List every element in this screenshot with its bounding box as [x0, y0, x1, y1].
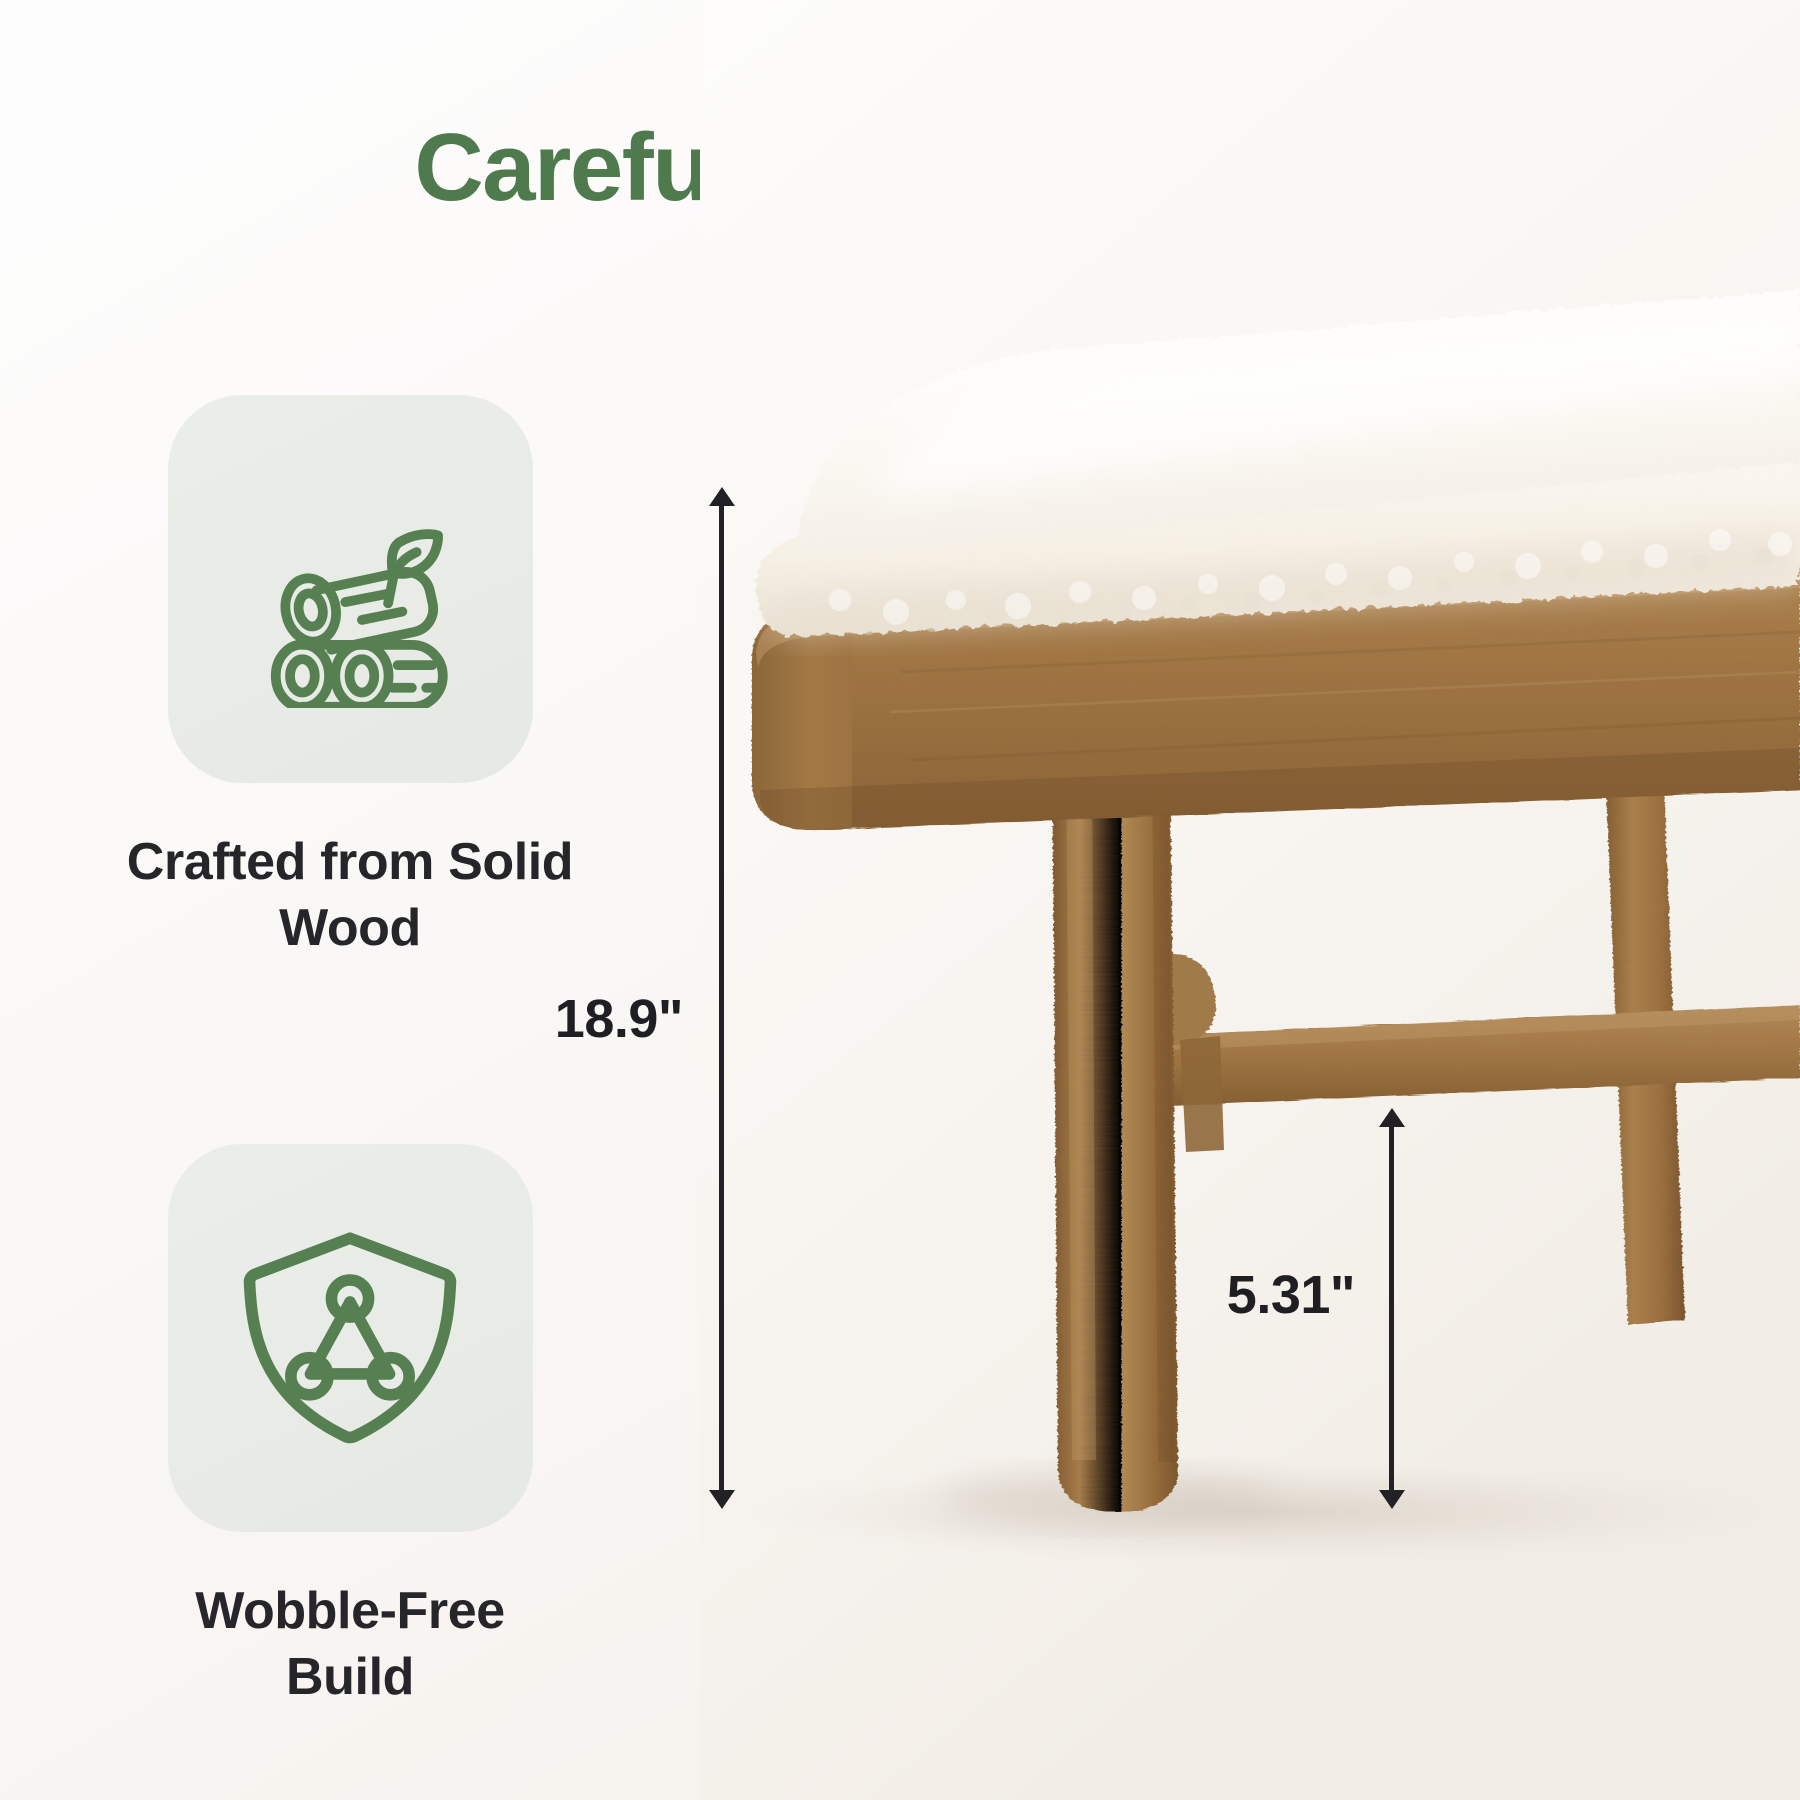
feature-label-line1: Wobble-Free	[195, 1582, 505, 1640]
feature-label-line2: Wood	[279, 899, 421, 957]
dimension-line-vertical	[719, 500, 724, 1496]
feature-list: Crafted from Solid Wood	[0, 395, 700, 1710]
feature-item-wobble-free: Wobble-Free Build	[0, 1144, 700, 1710]
dimension-label-clearance-height: 5.31"	[1090, 1264, 1355, 1326]
bench-leg-back-left	[1180, 1036, 1224, 1152]
feature-label: Crafted from Solid Wood	[0, 830, 700, 961]
shield-triangle-nodes-icon	[234, 1222, 466, 1454]
feature-label: Wobble-Free Build	[0, 1579, 700, 1710]
bench-leg-front-left	[1052, 742, 1178, 1512]
feature-icon-card	[168, 1144, 533, 1532]
feature-label-line1: Crafted from Solid	[127, 833, 573, 891]
dimension-arrow-bottom	[709, 1490, 735, 1509]
product-image	[700, 0, 1800, 1800]
feature-label-line2: Build	[286, 1648, 414, 1706]
dimension-arrow-bottom	[1379, 1490, 1405, 1509]
dimension-line-vertical	[1389, 1121, 1394, 1496]
bench-illustration	[700, 0, 1800, 1800]
feature-item-solid-wood: Crafted from Solid Wood	[0, 395, 700, 961]
feature-icon-card	[168, 395, 533, 783]
wood-logs-sprout-icon	[231, 470, 469, 708]
